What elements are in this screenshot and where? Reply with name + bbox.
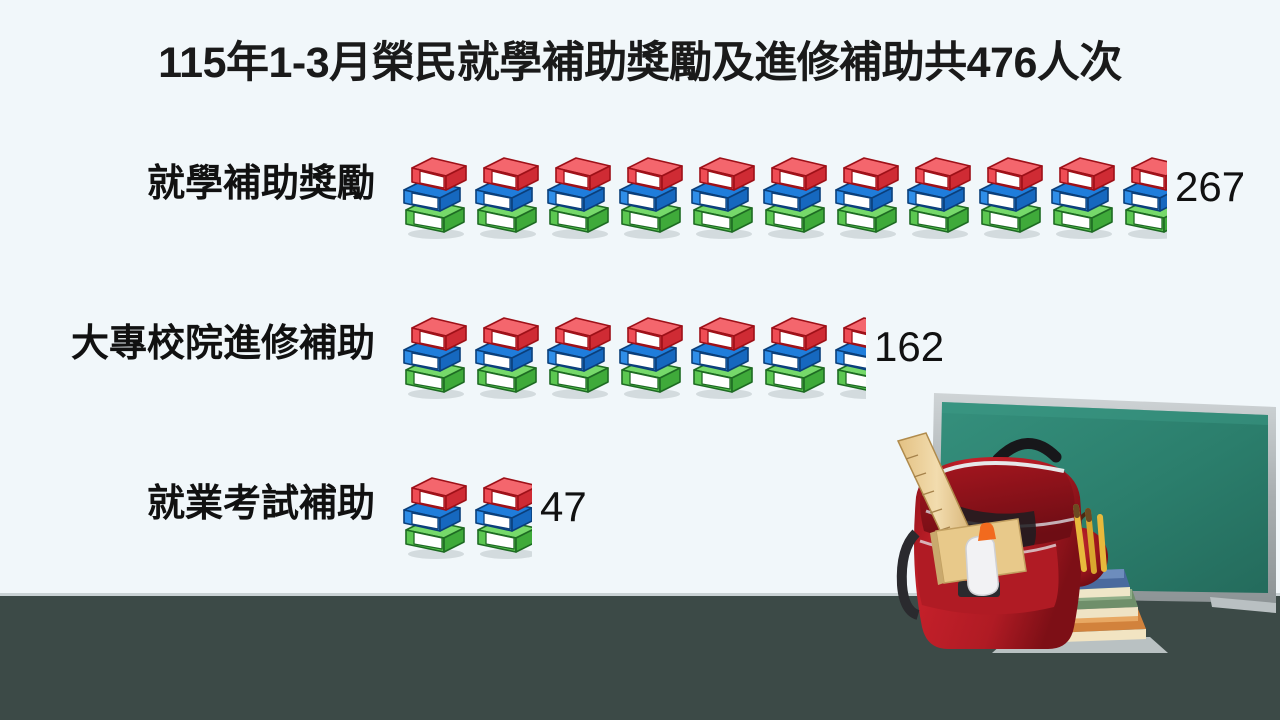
book-stack-icon bbox=[474, 148, 546, 244]
book-stack-icon bbox=[402, 308, 474, 404]
icon-group bbox=[402, 148, 1167, 244]
book-stack-icon bbox=[690, 308, 762, 404]
book-stack-icon bbox=[906, 148, 978, 244]
book-stack-icon bbox=[402, 468, 474, 564]
row-label-1: 就學補助獎勵 bbox=[0, 158, 375, 210]
row-label-3: 就業考試補助 bbox=[0, 478, 375, 530]
icon-group bbox=[402, 468, 532, 564]
row-value-1: 267 bbox=[1175, 164, 1245, 210]
book-stack-icon bbox=[618, 308, 690, 404]
book-stack-icon bbox=[762, 308, 834, 404]
book-stack-icon bbox=[762, 148, 834, 244]
book-stack-icon bbox=[690, 148, 762, 244]
book-stack-icon bbox=[402, 148, 474, 244]
book-stack-icon-partial bbox=[834, 308, 866, 404]
book-stack-icon bbox=[1050, 148, 1122, 244]
book-stack-icon-partial bbox=[1122, 148, 1167, 244]
book-stack-icon bbox=[978, 148, 1050, 244]
chart-row: 就學補助獎勵 bbox=[0, 140, 1280, 300]
icon-group bbox=[402, 308, 866, 404]
book-stack-icon bbox=[834, 148, 906, 244]
row-value-2: 162 bbox=[874, 324, 944, 370]
book-stack-icon bbox=[474, 308, 546, 404]
book-stack-icon bbox=[546, 308, 618, 404]
page-title: 115年1-3月榮民就學補助獎勵及進修補助共476人次 bbox=[0, 28, 1280, 90]
row-label-2: 大專校院進修補助 bbox=[0, 318, 375, 370]
row-value-3: 47 bbox=[540, 484, 587, 530]
book-stack-icon bbox=[618, 148, 690, 244]
classroom-photo bbox=[880, 385, 1280, 675]
book-stack-icon-partial bbox=[474, 468, 532, 564]
book-stack-icon bbox=[546, 148, 618, 244]
